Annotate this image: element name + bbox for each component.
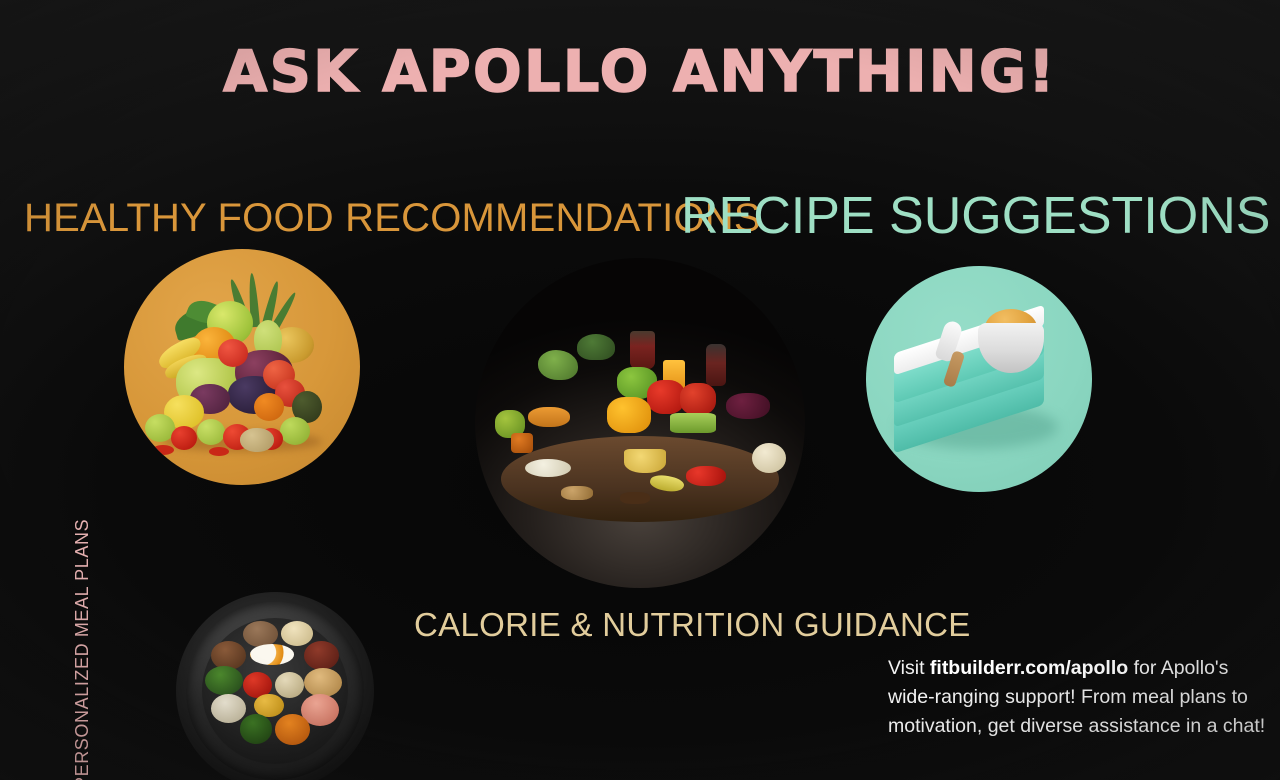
page-title: ASK APOLLO ANYTHING! — [0, 44, 1280, 101]
cherry-tomatoes-icon — [686, 466, 726, 486]
lettuce-icon — [538, 350, 578, 380]
footer-link-text[interactable]: fitbuilderr.com/apollo — [930, 657, 1128, 679]
nuts-icon — [561, 486, 593, 500]
jar-icon — [630, 331, 655, 369]
dish-boiled-eggs-icon — [250, 644, 294, 665]
dish-sausage-icon — [304, 641, 339, 670]
green-apple-icon — [197, 419, 225, 445]
dish-cauliflower-icon — [211, 694, 246, 723]
cheese-bowl-icon — [624, 449, 666, 473]
tomato-icon — [171, 426, 197, 450]
healthy-food-board-photo — [475, 258, 805, 588]
heading-recipe-suggestions: RECIPE SUGGESTIONS — [681, 190, 1270, 242]
celery-icon — [670, 413, 716, 433]
heading-personalized-meal-plans: PERSONALIZED MEAL PLANS — [73, 529, 91, 780]
heading-calorie-nutrition-guidance: CALORIE & NUTRITION GUIDANCE — [414, 608, 971, 641]
dish-potato-icon — [281, 621, 313, 646]
cauliflower-icon — [752, 443, 786, 473]
cheese-plate-icon — [528, 407, 570, 427]
fruit-pile-artwork — [124, 249, 360, 485]
dish-broccoli-icon — [240, 714, 272, 743]
lychee-icon — [254, 393, 284, 421]
rice-plate-icon — [525, 459, 571, 477]
dish-carrot-mash-icon — [275, 714, 310, 745]
red-pepper-icon — [647, 380, 685, 414]
bottle-icon — [706, 344, 726, 386]
red-pepper-icon — [680, 383, 716, 415]
yellow-pepper-icon — [607, 397, 651, 433]
juice-glass-icon — [511, 433, 533, 453]
dish-meat-icon — [243, 621, 278, 647]
dish-mushrooms-icon — [275, 672, 304, 698]
dish-greens-icon — [205, 666, 243, 695]
green-apple-icon — [280, 417, 310, 445]
grapes-icon — [726, 393, 770, 419]
berries-icon — [152, 445, 174, 455]
recipe-book-stack-artwork — [894, 309, 1064, 459]
platter-inner — [202, 618, 349, 765]
red-apple-icon — [218, 339, 248, 367]
footer-cta-text: Visit fitbuilderr.com/apollo for Apollo'… — [888, 654, 1266, 741]
dish-bread-icon — [304, 668, 342, 697]
seeds-icon — [620, 492, 650, 504]
melon-icon — [240, 428, 274, 452]
berries-icon — [209, 447, 229, 456]
heading-healthy-food-recommendations: HEALTHY FOOD RECOMMENDATIONS — [24, 198, 761, 238]
meal-prep-platter-photo — [176, 592, 374, 780]
broccoli-icon — [577, 334, 615, 360]
poster-canvas: ASK APOLLO ANYTHING! — [0, 0, 1280, 780]
fruit-pile-photo — [124, 249, 360, 485]
footer-lead-text: Visit — [888, 657, 930, 679]
recipe-book-icon — [866, 266, 1092, 492]
